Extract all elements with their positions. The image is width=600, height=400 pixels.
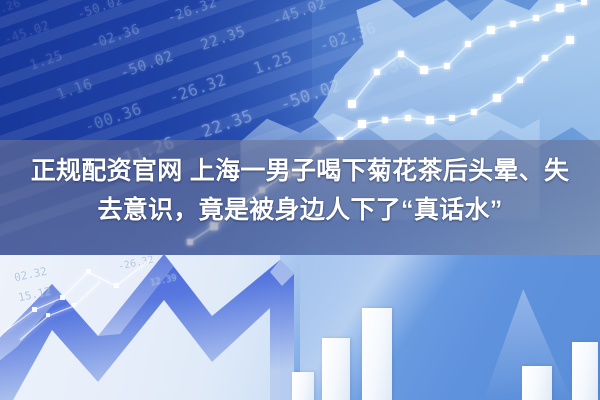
chart-node <box>510 21 516 27</box>
chart-node <box>444 63 450 69</box>
chart-node <box>566 36 574 44</box>
bar-column <box>572 342 598 400</box>
chart-node <box>374 69 380 75</box>
chart-node <box>348 100 356 108</box>
chart-node <box>493 94 501 102</box>
chart-node <box>405 115 411 121</box>
chart-node <box>382 117 388 123</box>
chart-node <box>449 115 455 121</box>
chart-node <box>398 51 404 57</box>
bar-column <box>362 308 392 400</box>
chart-node <box>581 0 587 5</box>
banner-image: -00.36-11.26-45.0221.02-02.36-45.024.36-… <box>0 0 600 400</box>
chart-node <box>533 15 539 21</box>
bar-column <box>292 372 314 400</box>
pale-constellation <box>0 252 240 342</box>
chart-node <box>426 116 434 124</box>
chart-node <box>358 120 366 128</box>
bar-column <box>322 338 350 400</box>
chart-line <box>352 2 584 104</box>
chart-node <box>465 41 471 47</box>
chart-node <box>542 55 548 61</box>
chart-node <box>556 4 564 12</box>
bar-column <box>522 366 552 400</box>
caption-text: 正规配资官网 上海一男子喝下菊花茶后头晕、失 去意识，竟是被身边人下了“真话水” <box>0 152 600 230</box>
chart-node <box>420 66 428 74</box>
chart-node <box>471 109 477 115</box>
chart-node <box>487 26 495 34</box>
chart-node <box>517 77 523 83</box>
